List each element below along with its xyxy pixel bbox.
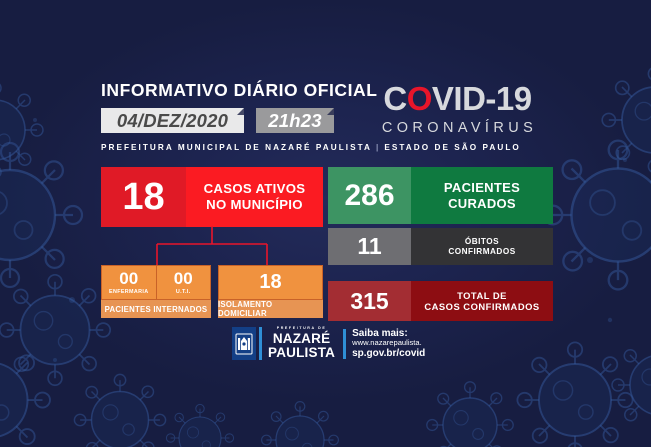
state-name: ESTADO DE SÃO PAULO: [384, 143, 520, 152]
prefeitura-logo: PREFEITURA DE NAZARÉ PAULISTA: [268, 327, 335, 360]
covid-wordmark-o: O: [407, 80, 432, 117]
cell-uti: 00 U.T.I.: [157, 265, 212, 300]
covid-brand: COVID-19 CORONAVÍRUS: [360, 82, 555, 136]
enfermaria-label: ENFERMARIA: [109, 289, 148, 295]
stat-card-total-confirmados: 315 TOTAL DE CASOS CONFIRMADOS: [328, 281, 553, 321]
stat-card-obitos: 11 ÓBITOS CONFIRMADOS: [328, 228, 553, 265]
internados-cells: 00 ENFERMARIA 00 U.T.I.: [101, 265, 211, 300]
saiba-mais-block: Saiba mais: www.nazarepaulista. sp.gov.b…: [352, 328, 425, 359]
website-url-line2[interactable]: sp.gov.br/covid: [352, 348, 425, 359]
stat-card-casos-ativos: 18 CASOS ATIVOS NO MUNICÍPIO: [101, 167, 323, 227]
covid-wordmark: COVID-19: [360, 82, 555, 115]
enfermaria-value: 00: [119, 270, 138, 287]
prefeitura-name-line1: NAZARÉ: [268, 332, 335, 346]
total-confirmados-label-line2: CASOS CONFIRMADOS: [424, 301, 539, 312]
pacientes-curados-value: 286: [328, 167, 411, 224]
group-isolamento-domiciliar: 18 ISOLAMENTO DOMICILIAR: [218, 265, 323, 318]
page-title: INFORMATIVO DIÁRIO OFICIAL: [101, 80, 377, 101]
casos-ativos-label: CASOS ATIVOS NO MUNICÍPIO: [186, 167, 323, 227]
isolamento-value: 18: [218, 265, 323, 300]
obitos-label: ÓBITOS CONFIRMADOS: [411, 228, 553, 265]
municipality-name: PREFEITURA MUNICIPAL DE NAZARÉ PAULISTA: [101, 143, 372, 152]
separator: |: [372, 143, 384, 152]
divider-bar-right: [343, 329, 346, 359]
uti-value: 00: [174, 270, 193, 287]
prefeitura-tiny-label: PREFEITURA DE: [268, 327, 335, 331]
date-badge: 04/DEZ/2020: [101, 108, 244, 133]
casos-ativos-value: 18: [101, 167, 186, 227]
total-confirmados-value: 315: [328, 281, 411, 321]
covid-wordmark-post: VID-19: [432, 80, 532, 117]
isolamento-footer-label: ISOLAMENTO DOMICILIAR: [218, 300, 323, 318]
coat-of-arms-icon: [232, 327, 256, 360]
pacientes-curados-label: PACIENTES CURADOS: [411, 167, 553, 224]
obitos-label-line1: ÓBITOS: [465, 237, 499, 247]
pacientes-curados-label-line2: CURADOS: [448, 196, 516, 212]
time-badge: 21h23: [256, 108, 334, 133]
casos-ativos-label-line1: CASOS ATIVOS: [204, 181, 306, 197]
pacientes-curados-label-line1: PACIENTES: [444, 180, 520, 196]
obitos-value: 11: [328, 228, 411, 265]
uti-label: U.T.I.: [176, 289, 191, 295]
stat-card-pacientes-curados: 286 PACIENTES CURADOS: [328, 167, 553, 224]
divider-bar-left: [259, 327, 262, 360]
footer-branding: PREFEITURA DE NAZARÉ PAULISTA Saiba mais…: [232, 327, 425, 360]
coat-of-arms-glyph: [235, 332, 253, 356]
coronavirus-subtitle: CORONAVÍRUS: [360, 120, 555, 136]
cell-enfermaria: 00 ENFERMARIA: [101, 265, 157, 300]
casos-ativos-label-line2: NO MUNICÍPIO: [206, 197, 303, 213]
group-pacientes-internados: 00 ENFERMARIA 00 U.T.I. PACIENTES INTERN…: [101, 265, 211, 318]
prefeitura-name-line2: PAULISTA: [268, 346, 335, 360]
website-url-line1[interactable]: www.nazarepaulista.: [352, 339, 425, 348]
covid-wordmark-pre: C: [383, 80, 406, 117]
municipality-line: PREFEITURA MUNICIPAL DE NAZARÉ PAULISTA|…: [101, 143, 521, 152]
internados-footer-label: PACIENTES INTERNADOS: [101, 300, 211, 318]
connector-lines: [101, 226, 326, 268]
total-confirmados-label: TOTAL DE CASOS CONFIRMADOS: [411, 281, 553, 321]
total-confirmados-label-line1: TOTAL DE: [457, 290, 507, 301]
obitos-label-line2: CONFIRMADOS: [448, 247, 515, 257]
